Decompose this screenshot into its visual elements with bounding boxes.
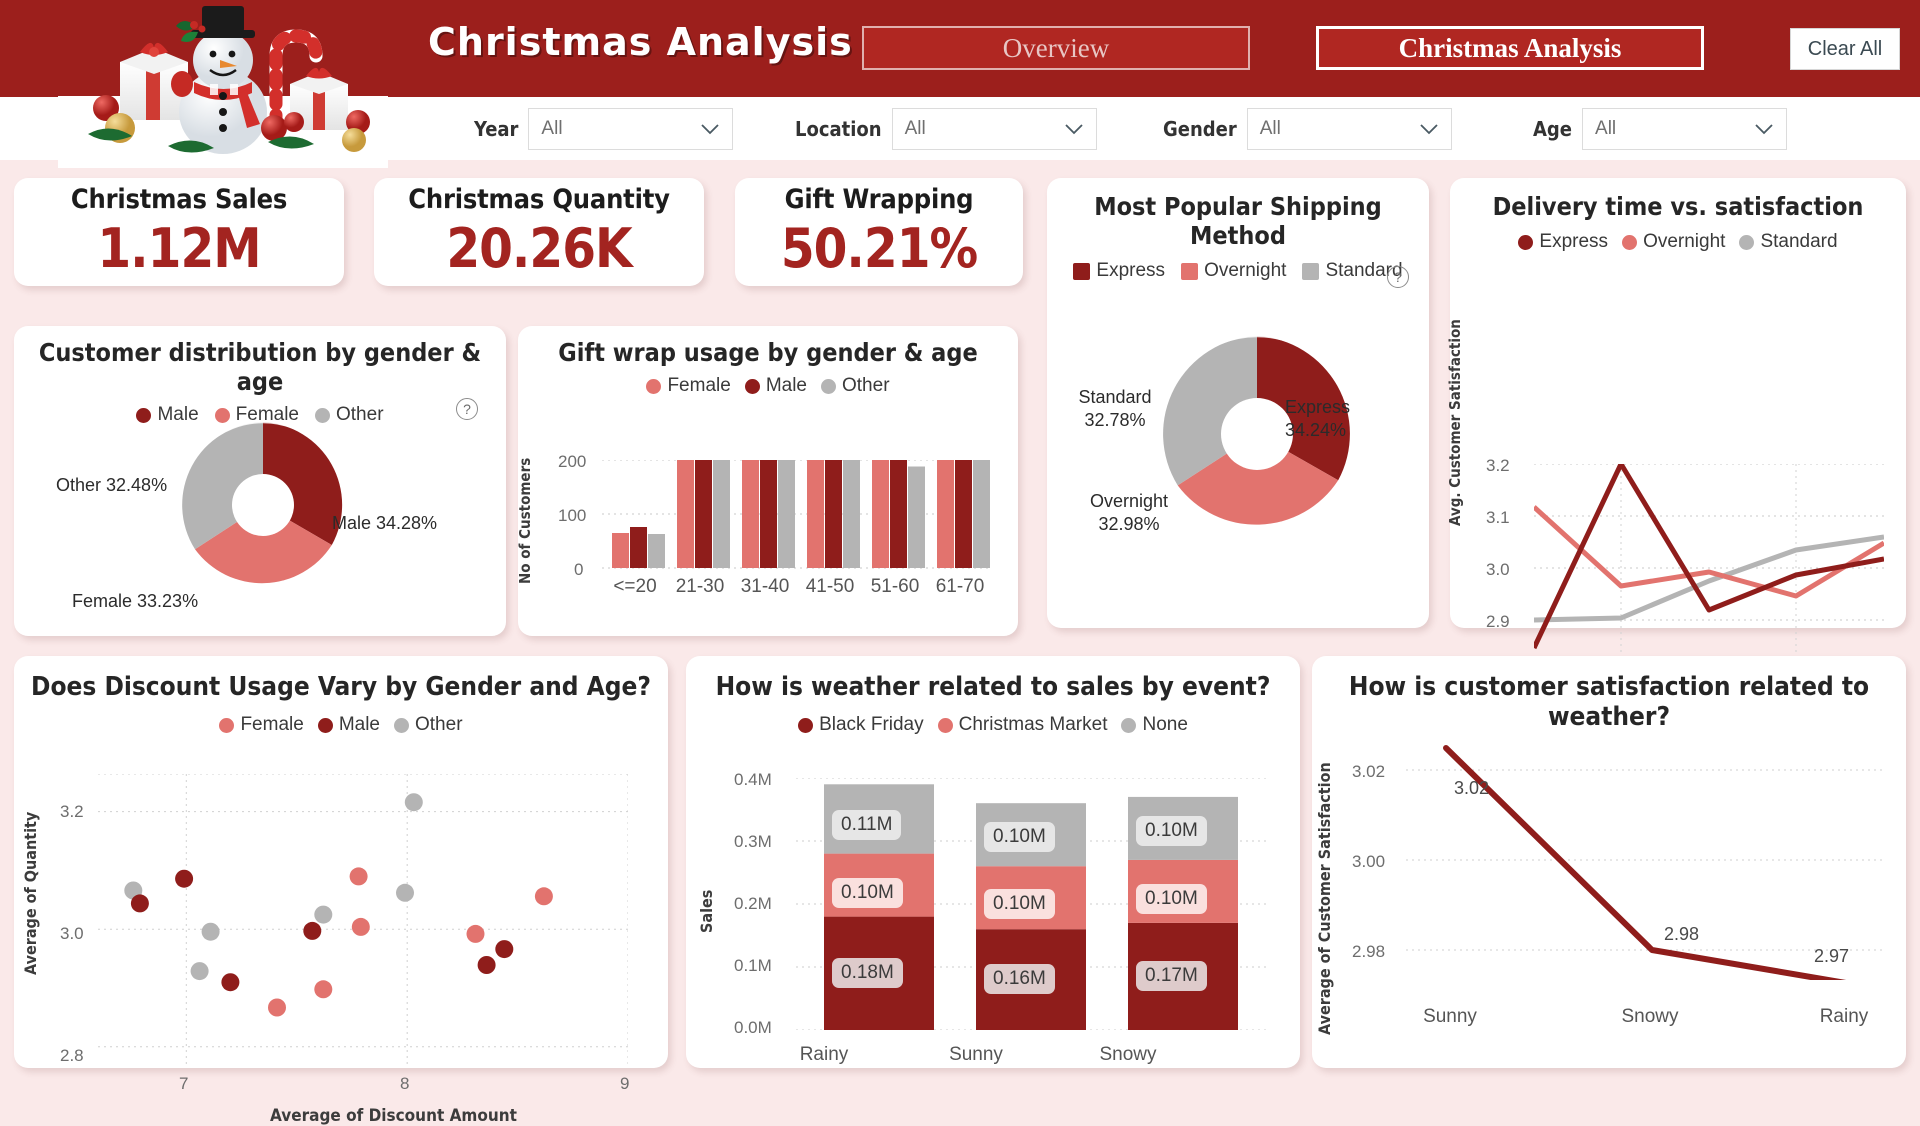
bar-value-label: 0.16M — [984, 964, 1055, 994]
x-tick: Rainy — [1784, 1006, 1904, 1028]
location-dropdown-value: All — [905, 118, 926, 140]
y-tick: 2.9 — [1486, 612, 1510, 632]
bar-value-label: 0.17M — [1136, 961, 1207, 991]
chart-title: Gift wrap usage by gender & age — [518, 338, 1018, 367]
chart-card-delivery-vs-satisfaction: Delivery time vs. satisfaction Express O… — [1450, 178, 1906, 628]
legend-item-overnight[interactable]: Overnight — [1622, 231, 1725, 253]
kpi-card-christmas-quantity: Christmas Quantity 20.26K — [374, 178, 704, 286]
x-tick: 8 — [400, 1074, 409, 1094]
y-tick: 3.0 — [1486, 560, 1510, 580]
kpi-label: Gift Wrapping — [785, 184, 974, 215]
y-tick: 0.1M — [734, 956, 772, 976]
chart-legend: Express Overnight Standard — [1047, 260, 1429, 282]
kpi-value: 1.12M — [97, 217, 260, 280]
bar-value-label: 0.18M — [832, 958, 903, 988]
legend-item-male[interactable]: Male — [745, 375, 807, 397]
legend-label: None — [1142, 714, 1187, 736]
donut-annotation-standard: Standard 32.78% — [1055, 386, 1175, 431]
donut-annotation-other: Other 32.48% — [56, 474, 226, 497]
legend-item-female[interactable]: Female — [219, 714, 303, 736]
donut-annotation-overnight: Overnight 32.98% — [1059, 490, 1199, 535]
y-tick: 2.8 — [60, 1046, 84, 1066]
satisfaction-weather-line-plot[interactable] — [1406, 718, 1886, 980]
y-tick: 0.0M — [734, 1018, 772, 1038]
chart-card-satisfaction-weather: How is customer satisfaction related to … — [1312, 656, 1906, 1068]
bar-value-label: 0.10M — [1136, 884, 1207, 914]
chart-legend: Female Male Other — [518, 375, 1018, 397]
legend-dot-icon — [646, 379, 661, 394]
customer-distribution-donut-svg[interactable] — [174, 416, 352, 594]
legend-label: Black Friday — [819, 714, 924, 736]
y-tick: 3.0 — [60, 924, 84, 944]
legend-swatch-icon — [1302, 263, 1319, 280]
chart-legend: Female Male Other — [14, 714, 668, 736]
legend-item-express[interactable]: Express — [1518, 231, 1608, 253]
filter-location: Location All — [795, 108, 1097, 150]
chart-title: How is weather related to sales by event… — [686, 672, 1300, 702]
legend-dot-icon — [394, 718, 409, 733]
chevron-down-icon — [1419, 123, 1439, 135]
tab-christmas-analysis-label: Christmas Analysis — [1399, 33, 1622, 64]
point-value-label: 3.02 — [1454, 778, 1489, 799]
gift-wrap-bars[interactable] — [602, 460, 992, 570]
x-tick: Rainy — [769, 1044, 879, 1066]
tab-overview[interactable]: Overview — [862, 26, 1250, 70]
x-tick: 9 — [620, 1074, 629, 1094]
y-tick: 0.2M — [734, 894, 772, 914]
chart-card-discount-usage: Does Discount Usage Vary by Gender and A… — [14, 656, 668, 1068]
filter-gender-label: Gender — [1163, 117, 1237, 141]
chart-card-gift-wrap-usage: Gift wrap usage by gender & age Female M… — [518, 326, 1018, 636]
y-tick: 3.02 — [1352, 762, 1385, 782]
legend-item-black-friday[interactable]: Black Friday — [798, 714, 924, 736]
chart-title: Customer distribution by gender & age — [14, 338, 506, 396]
donut-annotation-male: Male 34.28% — [332, 512, 502, 535]
legend-label: Express — [1539, 231, 1608, 253]
legend-dot-icon — [745, 379, 760, 394]
x-tick: 7 — [179, 1074, 188, 1094]
legend-dot-icon — [1622, 235, 1637, 250]
page-title: Christmas Analysis — [428, 20, 853, 64]
chevron-down-icon — [1754, 123, 1774, 135]
legend-dot-icon — [219, 718, 234, 733]
bar-value-label: 0.10M — [984, 889, 1055, 919]
year-dropdown-value: All — [541, 118, 562, 140]
help-icon[interactable]: ? — [456, 398, 478, 420]
legend-label: Female — [240, 714, 303, 736]
legend-dot-icon — [1121, 718, 1136, 733]
y-axis-label: Sales — [697, 890, 716, 933]
x-tick: 31-40 — [734, 576, 796, 598]
legend-dot-icon — [136, 408, 151, 423]
chevron-down-icon — [700, 123, 720, 135]
tab-overview-label: Overview — [1003, 33, 1109, 64]
y-tick: 3.2 — [60, 802, 84, 822]
point-value-label: 2.98 — [1664, 924, 1699, 945]
chart-card-customer-distribution: Customer distribution by gender & age Ma… — [14, 326, 506, 636]
x-tick: 41-50 — [799, 576, 861, 598]
legend-item-other[interactable]: Other — [821, 375, 890, 397]
y-axis-label: Avg. Customer Satisfaction — [1446, 319, 1464, 526]
bar-value-label: 0.10M — [832, 878, 903, 908]
year-dropdown[interactable]: All — [528, 108, 733, 150]
legend-label: Overnight — [1643, 231, 1725, 253]
legend-swatch-icon — [1181, 263, 1198, 280]
x-axis-label: Average of Discount Amount — [270, 1106, 517, 1126]
donut-annotation-female: Female 33.23% — [72, 590, 262, 613]
kpi-value: 20.26K — [446, 217, 631, 280]
legend-dot-icon — [938, 718, 953, 733]
x-tick: 61-70 — [929, 576, 991, 598]
chart-card-shipping-method: Most Popular Shipping Method Express Ove… — [1047, 178, 1429, 628]
legend-item-christmas-market[interactable]: Christmas Market — [938, 714, 1108, 736]
legend-item-express[interactable]: Express — [1073, 260, 1165, 282]
y-tick: 0.3M — [734, 832, 772, 852]
legend-label: Male — [339, 714, 380, 736]
filter-gender: Gender All — [1163, 108, 1452, 150]
filter-location-label: Location — [795, 117, 882, 141]
delivery-satisfaction-plot[interactable] — [1534, 464, 1884, 676]
x-tick: 51-60 — [864, 576, 926, 598]
legend-label: Express — [1096, 260, 1165, 282]
kpi-card-gift-wrapping: Gift Wrapping 50.21% — [735, 178, 1023, 286]
chart-title: Delivery time vs. satisfaction — [1450, 192, 1906, 221]
y-tick: 3.00 — [1352, 852, 1385, 872]
x-tick: Sunny — [921, 1044, 1031, 1066]
age-dropdown[interactable]: All — [1582, 108, 1787, 150]
gender-dropdown-value: All — [1260, 118, 1281, 140]
filter-age: Age All — [1533, 108, 1787, 150]
y-tick: 0.4M — [734, 770, 772, 790]
x-tick: Sunny — [1390, 1006, 1510, 1028]
bar-value-label: 0.11M — [832, 810, 901, 840]
bar-value-label: 0.10M — [984, 822, 1055, 852]
chart-legend: Black Friday Christmas Market None — [686, 714, 1300, 736]
age-dropdown-value: All — [1595, 118, 1616, 140]
app-header: Christmas Analysis Overview Christmas An… — [0, 0, 1920, 97]
chevron-down-icon — [1064, 123, 1084, 135]
point-value-label: 2.97 — [1814, 946, 1849, 967]
y-tick: 2.98 — [1352, 942, 1385, 962]
filter-bar: Year All Location All Gender All Age Al — [0, 97, 1920, 160]
y-tick: 100 — [558, 506, 586, 526]
donut-annotation-express: Express 34.24% — [1285, 396, 1405, 441]
x-tick: 21-30 — [669, 576, 731, 598]
discount-scatter-plot[interactable] — [98, 774, 628, 1068]
legend-item-overnight[interactable]: Overnight — [1181, 260, 1286, 282]
legend-item-none[interactable]: None — [1121, 714, 1187, 736]
chart-legend: Express Overnight Standard — [1450, 231, 1906, 253]
chart-card-weather-sales: How is weather related to sales by event… — [686, 656, 1300, 1068]
x-tick: Snowy — [1073, 1044, 1183, 1066]
kpi-label: Christmas Sales — [71, 184, 287, 215]
chart-title: Most Popular Shipping Method — [1047, 192, 1429, 250]
legend-item-standard[interactable]: Standard — [1739, 231, 1837, 253]
x-tick: Snowy — [1590, 1006, 1710, 1028]
tab-christmas-analysis[interactable]: Christmas Analysis — [1316, 26, 1704, 70]
kpi-card-christmas-sales: Christmas Sales 1.12M — [14, 178, 344, 286]
filter-age-label: Age — [1533, 117, 1572, 141]
legend-label: Other — [415, 714, 463, 736]
filter-year-label: Year — [474, 117, 518, 141]
location-dropdown[interactable]: All — [892, 108, 1097, 150]
legend-label: Female — [667, 375, 730, 397]
chart-title: Does Discount Usage Vary by Gender and A… — [14, 672, 668, 702]
legend-dot-icon — [1518, 235, 1533, 250]
filter-year: Year All — [474, 108, 733, 150]
legend-label: Other — [842, 375, 890, 397]
legend-label: Christmas Market — [959, 714, 1108, 736]
gender-dropdown[interactable]: All — [1247, 108, 1452, 150]
legend-dot-icon — [821, 379, 836, 394]
legend-item-male[interactable]: Male — [318, 714, 380, 736]
legend-label: Male — [766, 375, 807, 397]
legend-label: Standard — [1760, 231, 1837, 253]
y-tick: 3.2 — [1486, 456, 1510, 476]
legend-item-other[interactable]: Other — [394, 714, 463, 736]
y-tick: 3.1 — [1486, 508, 1510, 528]
legend-swatch-icon — [1073, 263, 1090, 280]
legend-dot-icon — [318, 718, 333, 733]
clear-all-button[interactable]: Clear All — [1790, 28, 1900, 70]
y-axis-label: Average of Quantity — [21, 812, 40, 975]
clear-all-label: Clear All — [1808, 38, 1882, 61]
y-tick: 0 — [574, 560, 583, 580]
kpi-value: 50.21% — [781, 217, 977, 280]
bar-value-label: 0.10M — [1136, 816, 1207, 846]
legend-item-female[interactable]: Female — [646, 375, 730, 397]
legend-label: Overnight — [1204, 260, 1286, 282]
y-tick: 200 — [558, 452, 586, 472]
x-tick: <=20 — [604, 576, 666, 598]
legend-dot-icon — [798, 718, 813, 733]
kpi-label: Christmas Quantity — [408, 184, 670, 215]
help-icon[interactable]: ? — [1387, 266, 1409, 288]
y-axis-label: Average of Customer Satisfaction — [1315, 762, 1334, 1035]
legend-dot-icon — [1739, 235, 1754, 250]
y-axis-label: No of Customers — [516, 458, 534, 584]
